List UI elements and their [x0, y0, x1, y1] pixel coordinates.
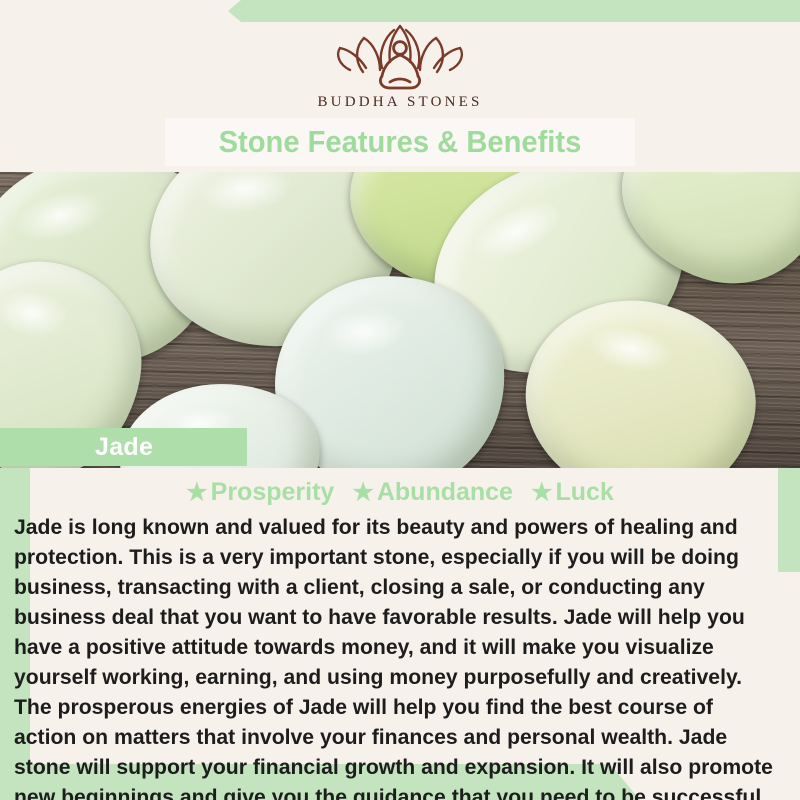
star-icon: ★: [531, 481, 553, 505]
benefits-row: ★Prosperity★Abundance★Luck: [0, 478, 800, 507]
lotus-meditation-icon: [330, 20, 470, 92]
benefit-label-2: Luck: [555, 478, 613, 506]
star-icon: ★: [352, 481, 374, 505]
benefit-item-1: ★Abundance: [352, 478, 513, 507]
page-title: Stone Features & Benefits: [219, 124, 582, 160]
benefit-label-0: Prosperity: [211, 478, 335, 506]
infographic-page: BUDDHA STONES Stone Features & Benefits …: [0, 0, 800, 800]
stone-name-band: Jade: [0, 428, 247, 466]
star-icon: ★: [186, 481, 208, 505]
title-banner: Stone Features & Benefits: [165, 118, 635, 166]
jade-stones-photo: [0, 172, 800, 468]
stone-description: Jade is long known and valued for its be…: [14, 512, 778, 800]
benefit-item-2: ★Luck: [531, 478, 614, 507]
decorative-bar-top: [215, 0, 800, 22]
brand-logo: BUDDHA STONES: [0, 20, 800, 111]
stone-name-label: Jade: [95, 433, 153, 462]
benefit-label-1: Abundance: [377, 478, 513, 506]
brand-wordmark: BUDDHA STONES: [0, 94, 800, 111]
benefit-item-0: ★Prosperity: [186, 478, 334, 507]
